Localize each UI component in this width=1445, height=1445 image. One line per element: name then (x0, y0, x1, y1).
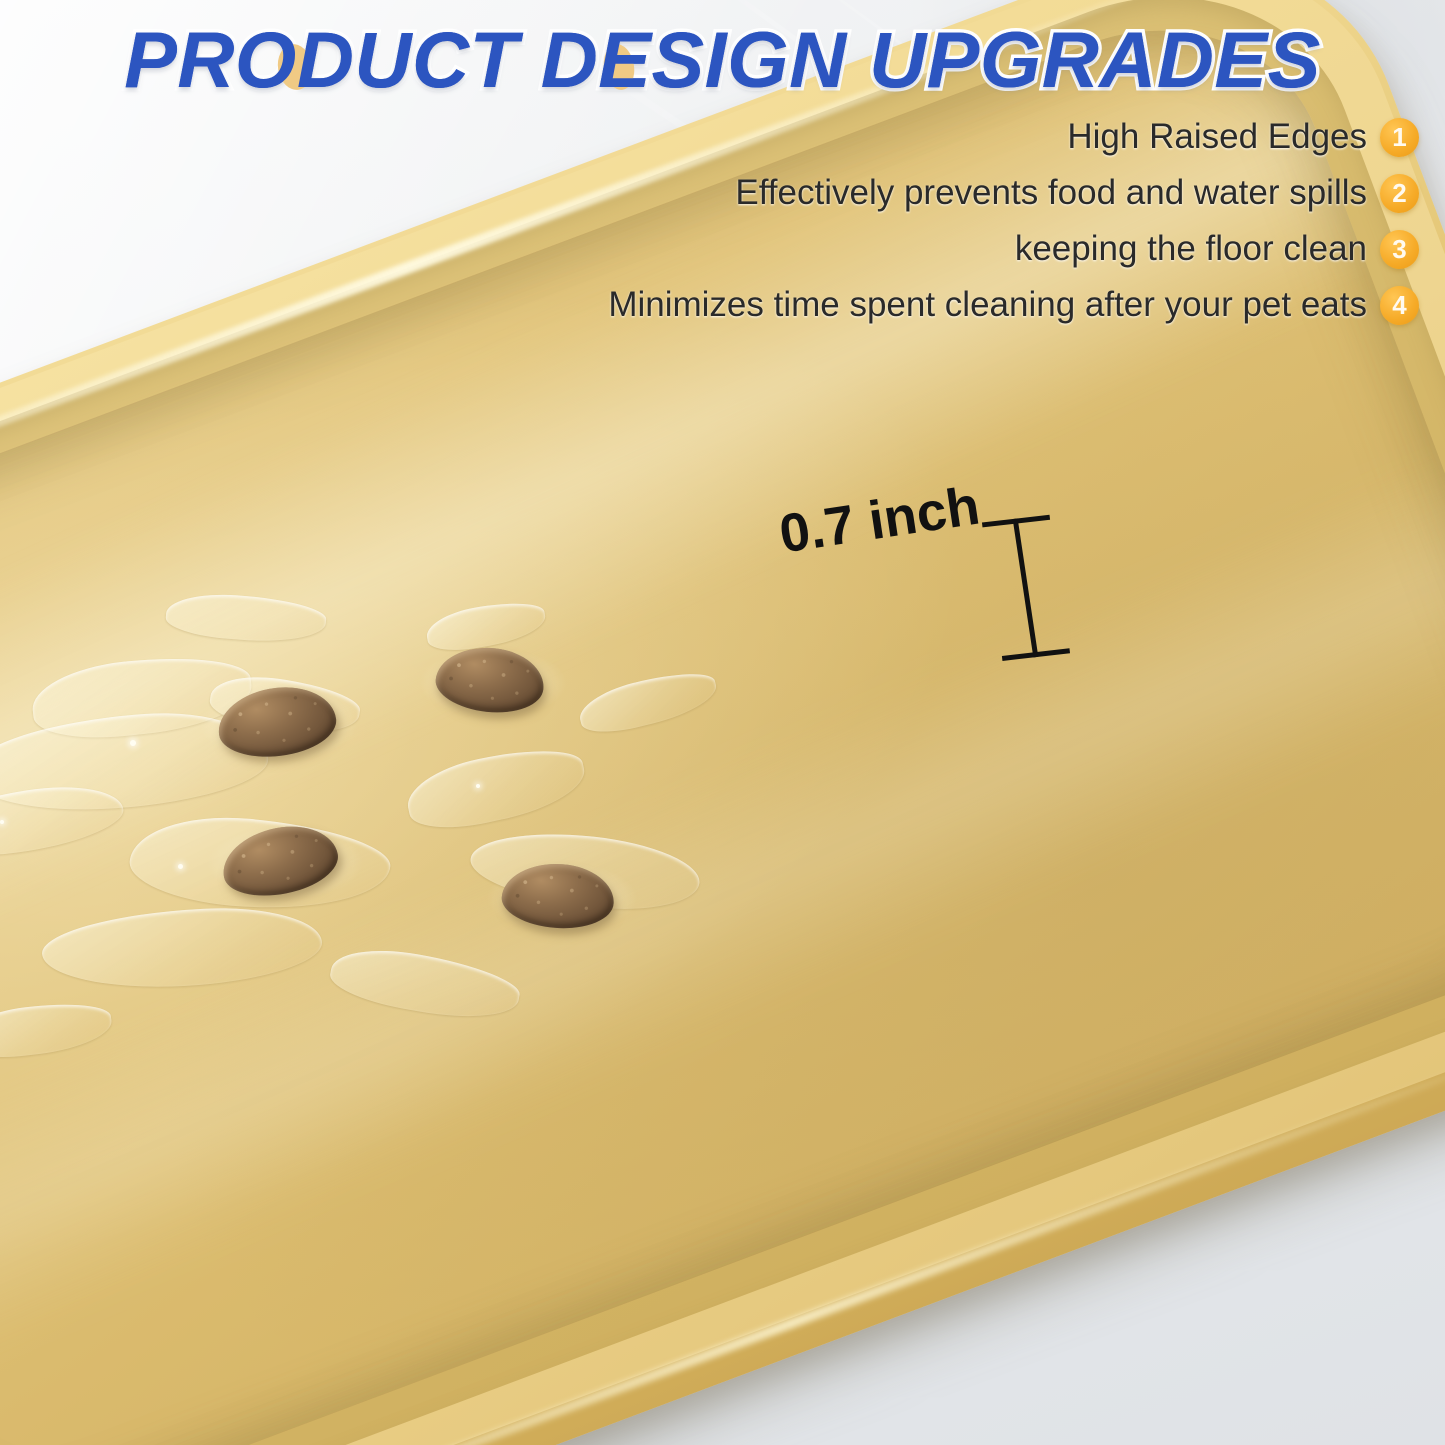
list-item: Minimizes time spent cleaning after your… (608, 286, 1419, 325)
feature-label: High Raised Edges (1067, 119, 1367, 156)
status-badge: 4 (1380, 286, 1419, 325)
page-title: PRODUCT DESIGN UPGRADES (0, 14, 1445, 106)
dimension-arrow-shaft (1012, 518, 1038, 657)
feature-label: Effectively prevents food and water spil… (735, 175, 1367, 212)
list-item: keeping the floor clean 3 (608, 230, 1419, 269)
list-item: High Raised Edges 1 (608, 118, 1419, 157)
list-item: Effectively prevents food and water spil… (608, 174, 1419, 213)
product-marketing-image: 0.7 inch PRODUCT DESIGN UPGRADES PRODUCT… (0, 0, 1445, 1445)
status-badge: 2 (1380, 174, 1419, 213)
feature-label: Minimizes time spent cleaning after your… (608, 287, 1367, 324)
feature-label: keeping the floor clean (1015, 231, 1367, 268)
feature-list: High Raised Edges 1 Effectively prevents… (608, 118, 1419, 342)
status-badge: 3 (1380, 230, 1419, 269)
status-badge: 1 (1380, 118, 1419, 157)
